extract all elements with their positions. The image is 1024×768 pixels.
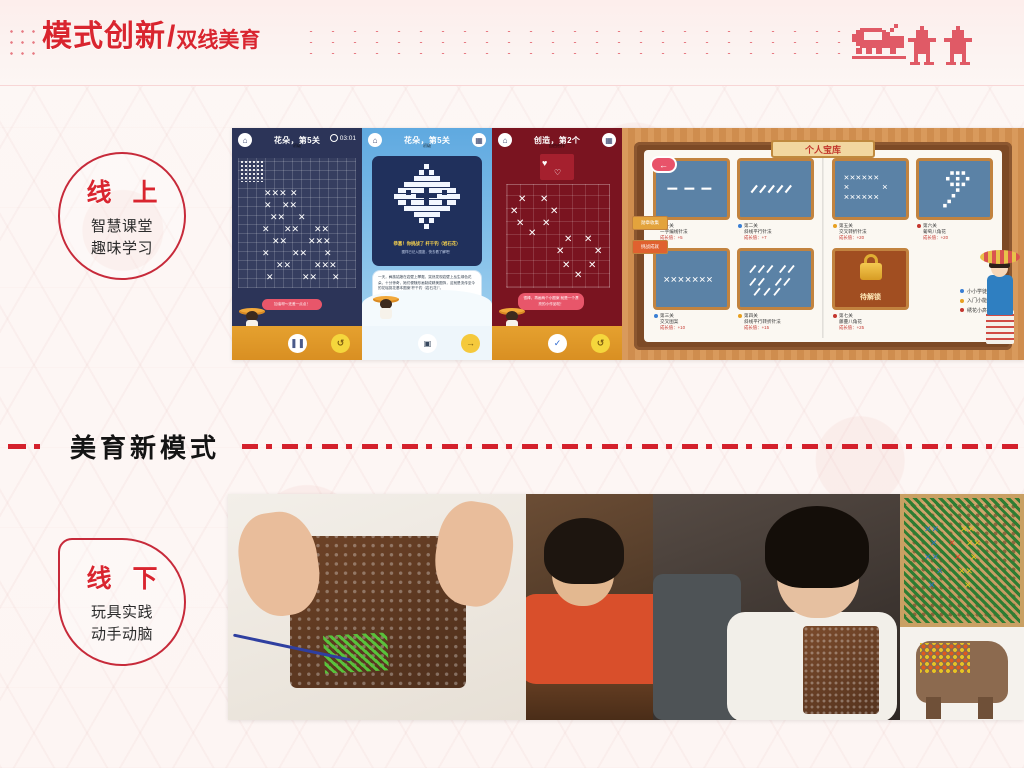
heart-stitches: ✕✕ ✕✕ ✕✕ ✕ ✕✕ ✕✕ ✕✕ ✕ (506, 184, 610, 288)
achievement-score: 成长值：+20 (917, 235, 992, 241)
stitch-pattern: ✕✕✕✕ ✕✕✕ ✕✕✕ ✕✕✕✕✕ ✕✕✕✕✕ ✕✕✕✕ ✕✕✕✕✕ ✕✕✕✕ (262, 182, 354, 287)
dash-right (242, 444, 1020, 449)
mini-preview-hearts: ♥ ♡ (542, 156, 572, 178)
tier-dot (654, 314, 658, 318)
lock-body-icon (860, 263, 882, 280)
achievement-thumbnail (737, 158, 814, 220)
svg-text:✕✕: ✕✕ (958, 567, 973, 577)
locked-thumbnail: 待解锁 (832, 248, 909, 310)
header-dot-pattern-right (300, 26, 860, 60)
svg-text:✕: ✕ (970, 553, 978, 563)
home-icon[interactable]: ⌂ (238, 133, 252, 147)
tier-dot (738, 224, 742, 228)
badge-online-line1: 智慧课堂 (91, 216, 153, 237)
badge-offline: 线 下 玩具实践 动手动脑 (58, 538, 186, 666)
section-title: 美育新模式 (46, 428, 242, 465)
clock-icon (330, 134, 338, 142)
svg-text:✕✕: ✕✕ (272, 237, 287, 247)
title-slash: / (166, 22, 176, 52)
reward-line: 恭喜！你挑战了 杆千钓（岩石花） (374, 241, 480, 247)
pattern-thumbnail (240, 160, 264, 182)
back-icon[interactable]: ← (650, 156, 677, 173)
legend-dot (960, 308, 964, 312)
undo-button[interactable]: ↺ (331, 334, 350, 353)
finished-cross-stitch-board-photo: ✕✕✕✕ ✕✕✕✕ ✕✕✕✕ ✕✕✕ ✕✕ (900, 494, 1024, 627)
svg-text:✕: ✕ (556, 246, 564, 257)
svg-text:✕: ✕ (332, 273, 340, 283)
mascot-icon (376, 296, 396, 322)
boy-shirt (526, 594, 653, 684)
svg-text:✕: ✕ (588, 260, 596, 271)
svg-text:✕: ✕ (528, 228, 536, 239)
svg-text:✕: ✕ (262, 249, 270, 259)
sidetab-medal-collection[interactable]: 勋章收集 (632, 216, 668, 230)
achievement-score: 成长值：+15 (738, 325, 813, 331)
svg-text:✕✕✕✕✕✕✕: ✕✕✕✕✕✕✕ (663, 276, 713, 286)
svg-text:✕✕✕: ✕✕✕ (264, 189, 287, 199)
svg-text:✕: ✕ (540, 194, 548, 205)
badge-online-line2: 趣味学习 (91, 238, 153, 259)
badge-offline-title: 线 下 (80, 559, 165, 595)
badge-online: 线 上 智慧课堂 趣味学习 (58, 152, 186, 280)
hands-holding-pegboard-photo (228, 494, 526, 720)
pig-leg (978, 697, 993, 719)
svg-text:✕: ✕ (264, 201, 272, 211)
svg-text:✕: ✕ (298, 213, 306, 223)
svg-text:✕: ✕ (936, 567, 944, 577)
wooden-pig-craft-photo (900, 627, 1024, 720)
hint-bubble: 很棒，再画两个小图案 就是一个漂亮的小作品啦！ (518, 293, 584, 310)
confirm-button[interactable]: ✓ (548, 334, 567, 353)
phone1-subtitle: 初级 (232, 143, 362, 149)
title-main: 模式创新 (42, 22, 166, 52)
sidetab-challenge-achievement[interactable]: 挑战成就 (632, 240, 668, 254)
badge-offline-line1: 玩具实践 (91, 602, 153, 623)
palette-icon[interactable]: ▦ (602, 133, 616, 147)
colored-flower-motif: ✕✕✕✕ ✕✕✕✕ ✕✕✕✕ ✕✕✕ ✕✕ (924, 518, 1002, 604)
svg-text:✕✕: ✕✕ (966, 539, 981, 549)
tier-dot (833, 224, 837, 228)
svg-text:✕: ✕ (594, 246, 602, 257)
svg-text:✕: ✕ (542, 218, 550, 229)
svg-text:✕✕: ✕✕ (314, 225, 329, 235)
phone2-toolbar: ▣ → (362, 326, 492, 360)
book-page-left: 第一关 一字编线针法 成长值：+5 (644, 150, 823, 342)
achievement-thumbnail (737, 248, 814, 310)
boy-hair (765, 506, 869, 588)
achievement-card[interactable]: 第二关 斜线平行针法 成长值：+7 (737, 158, 814, 241)
tier-dot (917, 224, 921, 228)
svg-text:✕✕: ✕✕ (276, 261, 291, 271)
achievement-card[interactable]: ✕✕✕✕✕✕✕ 第三关 交叉图案 成长值：+10 (653, 248, 730, 331)
svg-text:✕✕: ✕✕ (924, 525, 939, 535)
svg-text:✕✕: ✕✕ (284, 225, 299, 235)
boy-crafting-photo (526, 494, 653, 720)
achievement-thumbnail (916, 158, 993, 220)
boy-showing-board-photo (653, 494, 900, 720)
svg-text:✕: ✕ (324, 249, 332, 259)
slide-root: 模式创新 / 双线美育 (0, 0, 1024, 768)
achievement-thumbnail: ✕✕✕✕✕✕ ✕✕ ✕✕✕✕✕✕ (832, 158, 909, 220)
svg-text:✕✕: ✕✕ (292, 249, 307, 259)
svg-text:✕✕: ✕✕ (302, 273, 317, 283)
svg-text:✕✕: ✕✕ (282, 201, 297, 211)
cross-stitch-motif-icon (846, 20, 996, 68)
reward-subline: 图样已记入图鉴，快去看了解吧！ (374, 249, 480, 254)
offline-photo-strip: ✕✕✕✕ ✕✕✕✕ ✕✕✕✕ ✕✕✕ ✕✕ (228, 494, 1024, 720)
svg-text:✕: ✕ (510, 206, 518, 217)
collection-icon[interactable]: ▦ (472, 133, 486, 147)
screenshot-personal-treasury[interactable]: ← 个人宝库 勋章收集 挑战成就 (622, 128, 1024, 360)
header-dot-pattern-left (6, 26, 38, 60)
timer-value: 03:01 (340, 135, 356, 142)
svg-text:♡: ♡ (554, 168, 561, 177)
achievement-score: 成长值：+20 (833, 235, 908, 241)
yao-girl-mascot-icon (978, 250, 1022, 360)
tier-dot (833, 314, 837, 318)
boy-hair (544, 518, 624, 584)
svg-text:♥: ♥ (542, 158, 547, 168)
svg-text:✕: ✕ (948, 539, 956, 549)
svg-text:✕✕: ✕✕ (924, 553, 939, 563)
achievement-card[interactable]: 第六关 葡萄八角花 成长值：+20 (916, 158, 993, 241)
svg-text:✕✕✕: ✕✕✕ (308, 237, 331, 247)
undo-button[interactable]: ↺ (591, 334, 610, 353)
achievement-score: 成长值：+25 (833, 325, 908, 331)
svg-text:✕: ✕ (954, 553, 962, 563)
badge-online-title: 线 上 (80, 173, 165, 209)
tier-dot (738, 314, 742, 318)
svg-text:✕✕: ✕✕ (960, 525, 975, 535)
online-media-strip: 花朵，第5关 初级 ⌂ 03:01 ✕✕✕✕ ✕✕✕ ✕✕✕ (232, 128, 1024, 360)
section-divider: 美育新模式 (0, 424, 1024, 468)
page-title: 模式创新 / 双线美育 (42, 22, 260, 52)
snowflake-pattern (386, 162, 468, 234)
achievement-card-locked[interactable]: 待解锁 第七关 藤蔓八角花 成长值：+25 (832, 248, 909, 331)
screenshot-create-mode[interactable]: 创造，第2个 自由创作 ⌂ ▦ ♥ ♡ ✕✕ ✕✕ ✕✕ (492, 128, 622, 360)
book-title: 个人宝库 (771, 140, 875, 158)
svg-text:✕✕✕✕✕✕: ✕✕✕✕✕✕ (844, 193, 880, 202)
next-button[interactable]: → (461, 334, 480, 353)
svg-text:✕✕: ✕✕ (270, 213, 285, 223)
legend-dot (960, 299, 964, 303)
phone3-toolbar: ✓ ↺ (492, 326, 622, 360)
svg-text:✕: ✕ (844, 183, 850, 192)
achievement-card[interactable]: 第四关 斜线平行转折针法 成长值：+15 (737, 248, 814, 331)
hint-bubble: 加油呀～还差一点点！ (262, 299, 322, 310)
svg-text:✕: ✕ (882, 183, 888, 192)
svg-text:✕: ✕ (930, 539, 938, 549)
svg-text:✕: ✕ (290, 189, 298, 199)
svg-text:✕✕✕: ✕✕✕ (314, 261, 337, 271)
svg-text:✕: ✕ (964, 581, 972, 591)
achievement-score: 成长值：+7 (738, 235, 813, 241)
home-icon[interactable]: ⌂ (368, 133, 382, 147)
svg-text:✕: ✕ (562, 260, 570, 271)
locked-label: 待解锁 (835, 292, 906, 302)
pig-leg (926, 697, 941, 719)
title-sub: 双线美育 (176, 30, 260, 51)
pig-stitch-pattern (920, 643, 970, 673)
pause-button[interactable]: ❚❚ (288, 334, 307, 353)
dash-left (8, 444, 46, 449)
screenshot-completion-story[interactable]: 花朵，第5关 初级 ⌂ ▦ (362, 128, 492, 360)
legend-dot (960, 289, 964, 293)
slide-header: 模式创新 / 双线美育 (0, 0, 1024, 86)
svg-text:✕: ✕ (266, 273, 274, 283)
craft-results-column: ✕✕✕✕ ✕✕✕✕ ✕✕✕✕ ✕✕✕ ✕✕ (900, 494, 1024, 720)
svg-text:✕✕✕✕✕✕: ✕✕✕✕✕✕ (844, 173, 880, 182)
achievement-card[interactable]: ✕✕✕✕✕✕ ✕✕ ✕✕✕✕✕✕ 第五关 交叉转折 (832, 158, 909, 241)
svg-text:✕: ✕ (574, 270, 582, 281)
screenshot-puzzle-play[interactable]: 花朵，第5关 初级 ⌂ 03:01 ✕✕✕✕ ✕✕✕ ✕✕✕ (232, 128, 362, 360)
svg-text:✕: ✕ (928, 581, 936, 591)
camera-button[interactable]: ▣ (418, 334, 437, 353)
svg-text:✕: ✕ (516, 218, 524, 229)
svg-text:✕: ✕ (550, 206, 558, 217)
timer-display: 03:01 (330, 134, 356, 142)
svg-text:✕: ✕ (518, 194, 526, 205)
badge-offline-line2: 动手动脑 (91, 624, 153, 645)
achievement-thumbnail: ✕✕✕✕✕✕✕ (653, 248, 730, 310)
achievement-score: 成长值：+10 (654, 325, 729, 331)
svg-text:✕: ✕ (564, 234, 572, 245)
book-page-right: ✕✕✕✕✕✕ ✕✕ ✕✕✕✕✕✕ 第五关 交叉转折 (823, 150, 1002, 342)
home-icon[interactable]: ⌂ (498, 133, 512, 147)
green-yarn-stitches (323, 632, 389, 673)
phone1-toolbar: ❚❚ ↺ (232, 326, 362, 360)
book-spread: 第一关 一字编线针法 成长值：+5 (644, 150, 1002, 342)
svg-text:✕: ✕ (262, 225, 270, 235)
held-pegboard (803, 626, 879, 714)
svg-text:✕: ✕ (584, 234, 592, 245)
